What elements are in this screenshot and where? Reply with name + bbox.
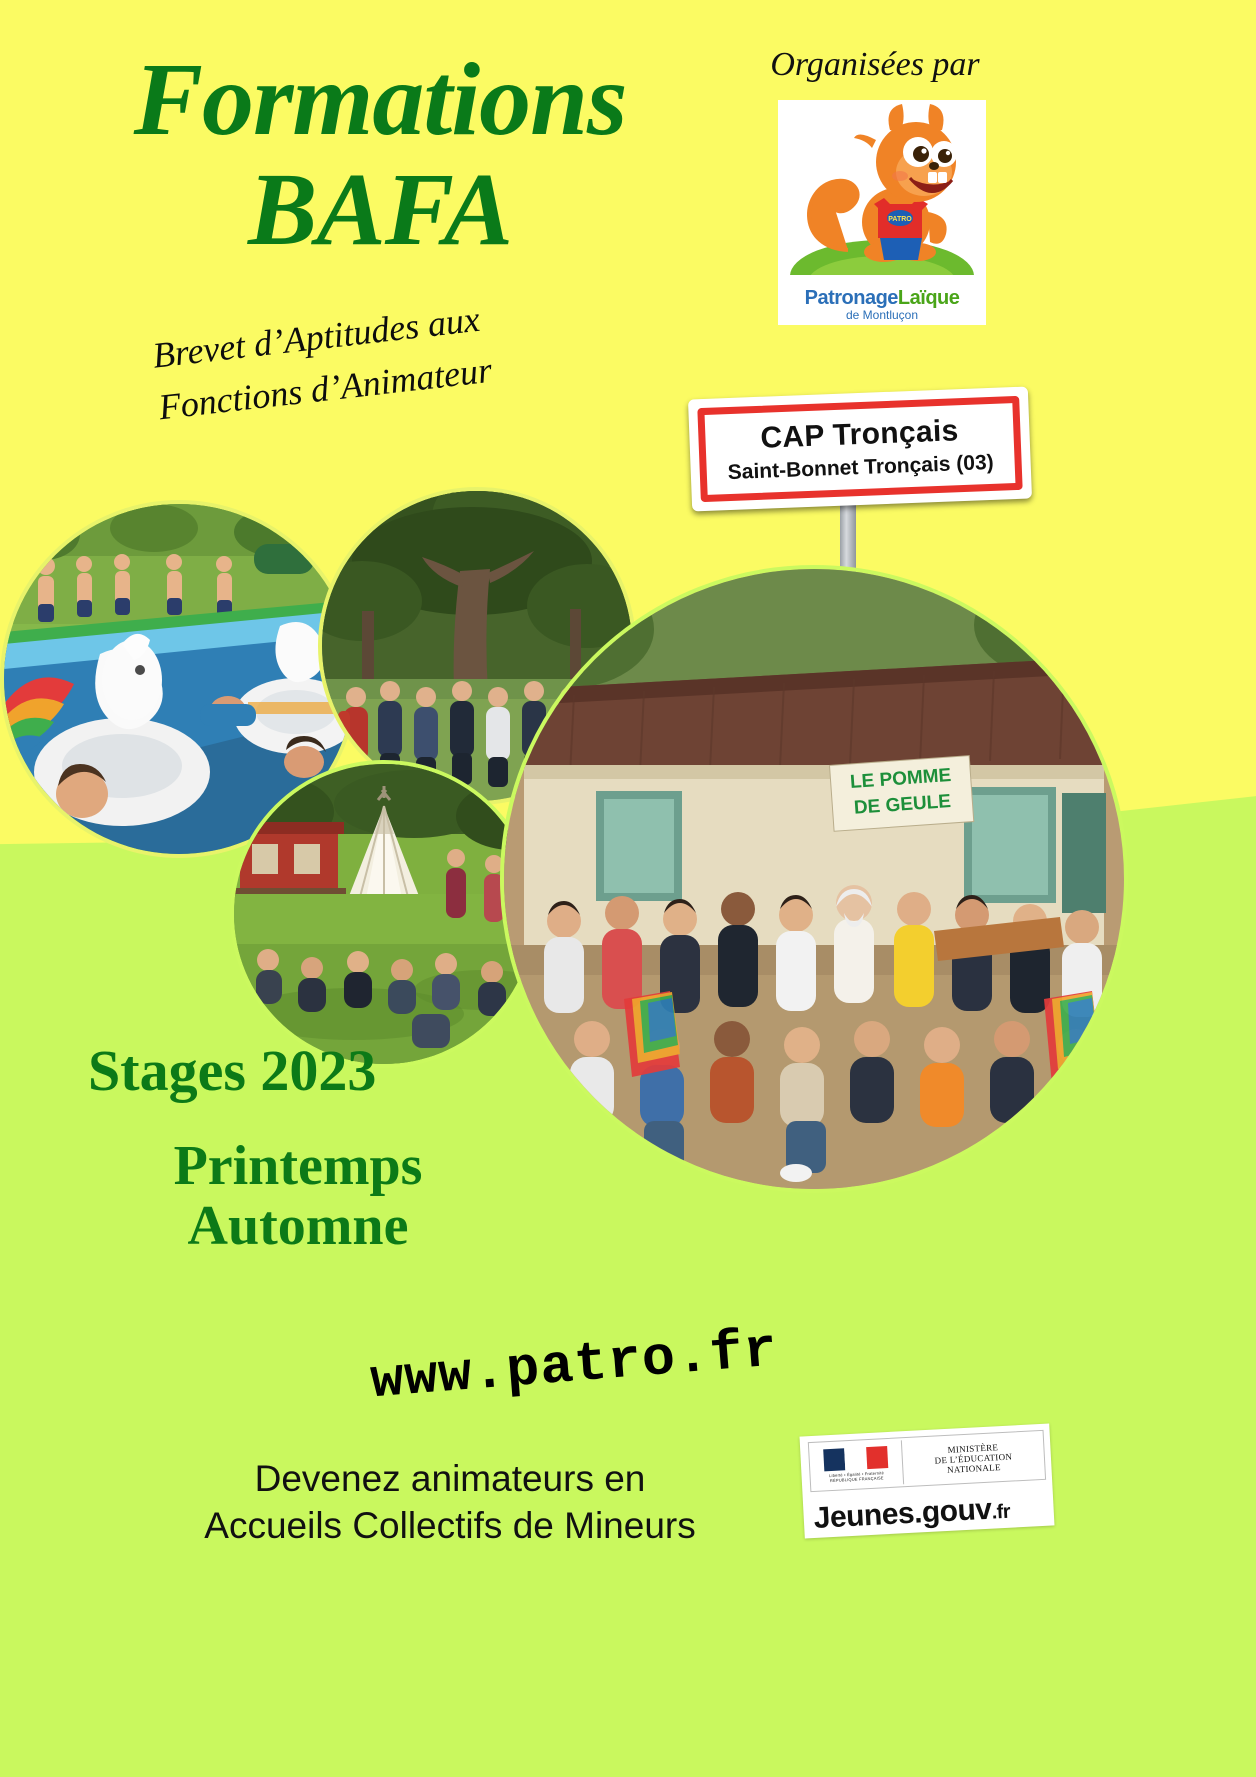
marianne-icon: Liberté • Égalité • Fraternité RÉPUBLIQU… <box>809 1440 904 1489</box>
road-sign-inner: CAP Tronçais Saint-Bonnet Tronçais (03) <box>697 396 1022 502</box>
patro-word-part1: Patronage <box>805 287 898 309</box>
group-building-photo-art: LE POMME DE GEULE <box>504 569 1124 1189</box>
road-sign-line-1: CAP Tronçais <box>760 414 959 456</box>
tagline-line-2: Accueils Collectifs de Mineurs <box>150 1502 750 1549</box>
svg-text:PATRO: PATRO <box>888 216 912 223</box>
stages-season-spring: Printemps <box>88 1136 508 1196</box>
patronage-laique-logo: PATRO <box>778 100 986 325</box>
tipi-camp-photo-art <box>234 764 534 1064</box>
tagline-line-1: Devenez animateurs en <box>150 1455 750 1502</box>
french-flag-icon <box>823 1446 888 1471</box>
stages-block: Stages 2023 Printemps Automne <box>88 1042 508 1257</box>
subtitle: Brevet d’Aptitudes aux Fonctions d’Anima… <box>150 277 629 434</box>
patro-subline: de Montluçon <box>778 309 986 321</box>
tipi-camp-photo <box>230 760 538 1068</box>
jeunes-gouv-logo: Liberté • Égalité • Fraternité RÉPUBLIQU… <box>800 1424 1055 1539</box>
ministry-block: Liberté • Égalité • Fraternité RÉPUBLIQU… <box>808 1430 1046 1492</box>
gouv-wordmark-tld: .fr <box>991 1501 1011 1524</box>
road-sign: CAP Tronçais Saint-Bonnet Tronçais (03) <box>688 387 1032 512</box>
title-line-2: BAFA <box>60 158 700 262</box>
road-sign-line-2: Saint-Bonnet Tronçais (03) <box>727 451 994 485</box>
tagline: Devenez animateurs en Accueils Collectif… <box>150 1455 750 1550</box>
poster-root: Formations BAFA Brevet d’Aptitudes aux F… <box>0 0 1256 1777</box>
stages-season-autumn: Automne <box>88 1196 508 1256</box>
page-title: Formations BAFA <box>60 48 700 262</box>
ministry-name: MINISTÈRE DE L’ÉDUCATION NATIONALE <box>902 1440 1044 1478</box>
stages-year: Stages 2023 <box>88 1042 508 1100</box>
patro-word-part2: Laïque <box>898 287 959 309</box>
group-building-photo: LE POMME DE GEULE <box>500 565 1128 1193</box>
organised-by-label: Organisées par <box>735 46 1015 84</box>
squirrel-mascot-icon: PATRO <box>778 100 986 275</box>
patro-logo-text: PatronageLaïque de Montluçon <box>778 288 986 321</box>
gouv-wordmark-main: Jeunes.gouv <box>813 1493 992 1535</box>
title-line-1: Formations <box>60 48 700 152</box>
